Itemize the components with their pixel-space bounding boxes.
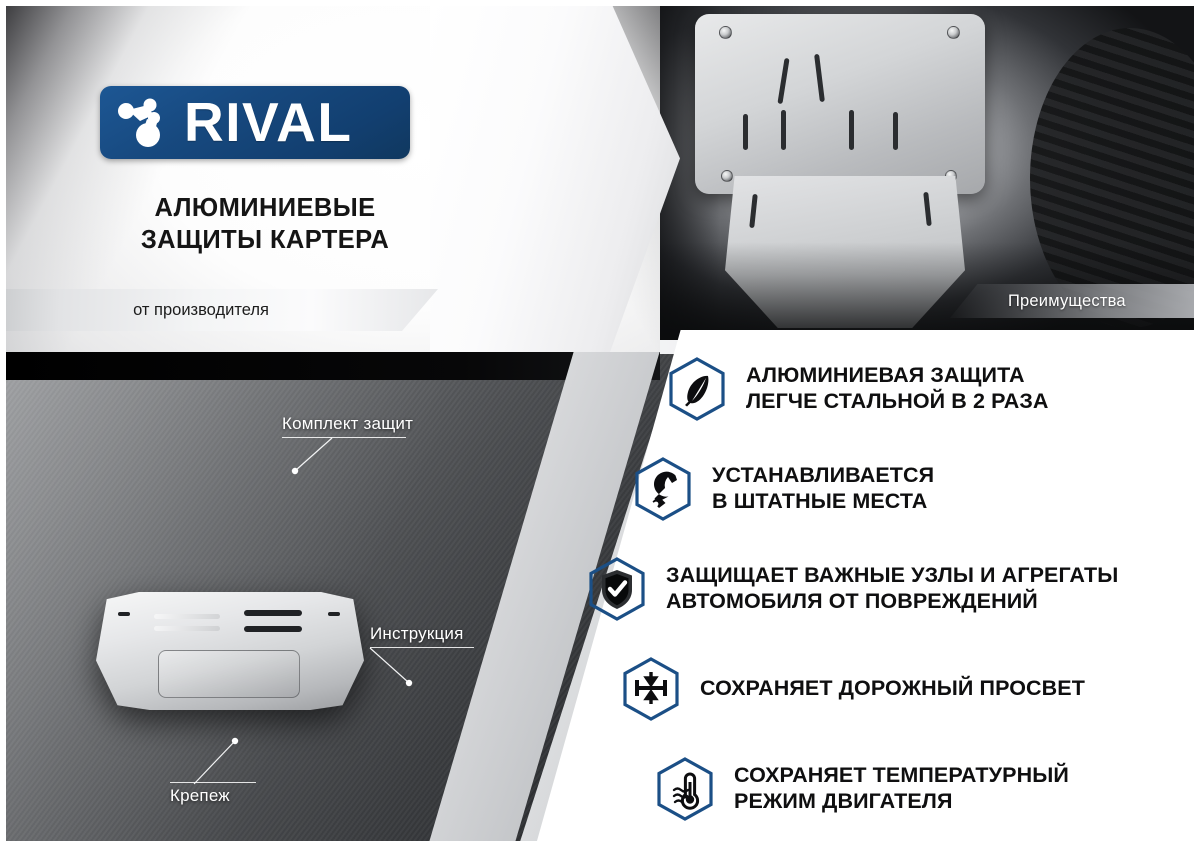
shield-check-icon (586, 556, 648, 622)
rival-logo: RIVAL (100, 86, 410, 159)
advantage-line-2: АВТОМОБИЛЯ ОТ ПОВРЕЖДЕНИЙ (666, 589, 1118, 615)
headline-line-2: ЗАЩИТЫ КАРТЕРА (100, 224, 430, 256)
fasteners-leader-line (190, 732, 256, 788)
advantage-line-1: СОХРАНЯЕТ ДОРОЖНЫЙ ПРОСВЕТ (700, 676, 1085, 700)
advantage-line-1: ЗАЩИЩАЕТ ВАЖНЫЕ УЗЛЫ И АГРЕГАТЫ (666, 563, 1118, 587)
advantage-line-1: СОХРАНЯЕТ ТЕМПЕРАТУРНЫЙ (734, 763, 1069, 787)
advantage-item-temperature: СОХРАНЯЕТ ТЕМПЕРАТУРНЫЙ РЕЖИМ ДВИГАТЕЛЯ (654, 756, 1168, 822)
kit-leader-line (276, 436, 336, 480)
manufacturer-ribbon-label: от производителя (133, 301, 293, 320)
manufacturer-ribbon: от производителя (0, 289, 438, 331)
advantage-item-clearance: СОХРАНЯЕТ ДОРОЖНЫЙ ПРОСВЕТ (620, 656, 1168, 722)
fasteners-callout: Крепеж (170, 782, 256, 806)
wrench-icon (632, 456, 694, 522)
feather-icon (666, 356, 728, 422)
headline-line-1: АЛЮМИНИЕВЫЕ (100, 192, 430, 224)
advantage-text-temperature: СОХРАНЯЕТ ТЕМПЕРАТУРНЫЙ РЕЖИМ ДВИГАТЕЛЯ (734, 763, 1069, 815)
advantage-line-1: АЛЮМИНИЕВАЯ ЗАЩИТА (746, 363, 1025, 387)
instruction-leader-line (366, 646, 422, 690)
kit-callout: Комплект защит (282, 414, 413, 438)
rival-logo-text: RIVAL (184, 95, 352, 150)
advantage-item-protection: ЗАЩИЩАЕТ ВАЖНЫЕ УЗЛЫ И АГРЕГАТЫ АВТОМОБИ… (586, 556, 1168, 622)
advantage-text-install: УСТАНАВЛИВАЕТСЯ В ШТАТНЫЕ МЕСТА (712, 463, 934, 515)
promo-banner: Преимущества RIVAL АЛЮМИНИЕВЫЕ ЗАЩИТЫ КА… (0, 0, 1200, 848)
advantage-item-weight: АЛЮМИНИЕВАЯ ЗАЩИТА ЛЕГЧЕ СТАЛЬНОЙ В 2 РА… (666, 356, 1168, 422)
advantages-tab-label: Преимущества (1008, 292, 1126, 311)
advantages-tab: Преимущества (950, 284, 1200, 318)
instruction-callout: Инструкция (370, 624, 474, 648)
skid-plate-main (96, 592, 364, 710)
ground-clearance-icon (620, 656, 682, 722)
scene-top-black-band (0, 352, 660, 380)
fasteners-callout-label: Крепеж (170, 786, 256, 806)
photo-skid-plate-upper (695, 14, 985, 194)
advantage-text-clearance: СОХРАНЯЕТ ДОРОЖНЫЙ ПРОСВЕТ (700, 676, 1085, 702)
advantage-line-1: УСТАНАВЛИВАЕТСЯ (712, 463, 934, 487)
advantage-line-2: РЕЖИМ ДВИГАТЕЛЯ (734, 789, 1069, 815)
kit-callout-label: Комплект защит (282, 414, 413, 434)
instruction-callout-label: Инструкция (370, 624, 474, 644)
advantage-text-weight: АЛЮМИНИЕВАЯ ЗАЩИТА ЛЕГЧЕ СТАЛЬНОЙ В 2 РА… (746, 363, 1049, 415)
thermometer-icon (654, 756, 716, 822)
advantage-line-2: ЛЕГЧЕ СТАЛЬНОЙ В 2 РАЗА (746, 389, 1049, 415)
advantage-line-2: В ШТАТНЫЕ МЕСТА (712, 489, 934, 515)
advantages-list: АЛЮМИНИЕВАЯ ЗАЩИТА ЛЕГЧЕ СТАЛЬНОЙ В 2 РА… (648, 356, 1168, 848)
molecule-icon (114, 94, 186, 152)
page-title: АЛЮМИНИЕВЫЕ ЗАЩИТЫ КАРТЕРА (100, 192, 430, 257)
advantage-item-install: УСТАНАВЛИВАЕТСЯ В ШТАТНЫЕ МЕСТА (632, 456, 1168, 522)
advantage-text-protection: ЗАЩИЩАЕТ ВАЖНЫЕ УЗЛЫ И АГРЕГАТЫ АВТОМОБИ… (666, 563, 1118, 615)
